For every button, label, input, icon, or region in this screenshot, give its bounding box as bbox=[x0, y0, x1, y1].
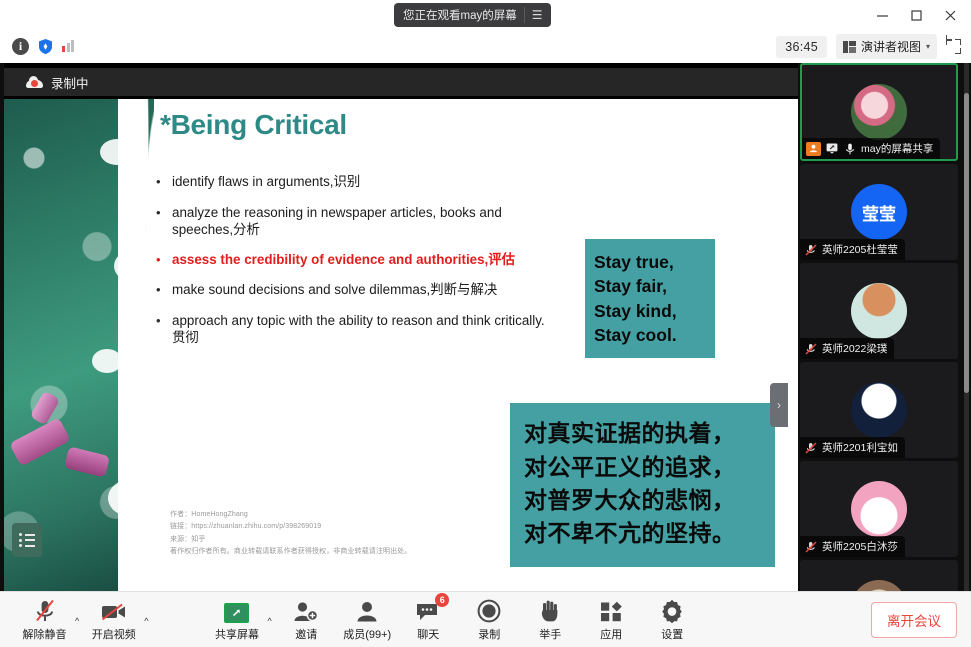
chevron-down-icon: ▾ bbox=[926, 42, 930, 51]
participants-label: 成员(99+) bbox=[343, 626, 391, 642]
bullet-text: assess the credibility of evidence and a… bbox=[172, 251, 515, 269]
record-label: 录制 bbox=[478, 626, 500, 642]
control-group-leave: 离开会议 bbox=[841, 602, 971, 638]
avatar bbox=[851, 580, 907, 591]
bullet-icon: • bbox=[156, 251, 172, 269]
attribution-line: 著作权归作者所有。商业转载请联系作者获得授权，非商业转载请注明出处。 bbox=[170, 546, 411, 558]
list-item: • make sound decisions and solve dilemma… bbox=[156, 281, 556, 299]
raise-hand-label: 举手 bbox=[539, 626, 561, 642]
host-badge-icon bbox=[806, 142, 821, 156]
view-mode-selector[interactable]: 演讲者视图 ▾ bbox=[836, 34, 937, 59]
participant-name-bar: 英师2205杜莹莹 bbox=[800, 239, 905, 260]
bullet-text: approach any topic with the ability to r… bbox=[172, 312, 556, 346]
control-group-main: 共享屏幕 ^ 邀请 成员(99+) 6 聊天 bbox=[206, 597, 702, 642]
audio-options-caret[interactable]: ^ bbox=[75, 616, 83, 642]
bullet-icon: • bbox=[156, 204, 172, 238]
avatar-initials: 莹莹 bbox=[851, 184, 907, 240]
participant-name: 英师2022梁璞 bbox=[822, 341, 887, 356]
slide-title: *Being Critical bbox=[160, 109, 347, 141]
participants-button[interactable]: 成员(99+) bbox=[337, 597, 398, 642]
participant-scrollbar[interactable] bbox=[964, 63, 969, 591]
attribution-line: 来源：知乎 bbox=[170, 534, 411, 546]
start-video-button[interactable]: 开启视频 bbox=[83, 597, 144, 642]
close-button[interactable] bbox=[933, 1, 967, 29]
bullet-icon: • bbox=[156, 281, 172, 299]
participant-strip: may的屏幕共享 莹莹 英师2205杜莹莹 bbox=[800, 63, 964, 591]
apps-button[interactable]: 应用 bbox=[581, 597, 642, 642]
participant-name: 英师2205白沐莎 bbox=[822, 539, 898, 554]
participant-tile[interactable]: 莹莹 英师2205杜莹莹 bbox=[800, 164, 958, 260]
slide-attribution: 作者：HomeHongZhang 链接：https://zhuanlan.zhi… bbox=[170, 509, 411, 558]
list-item: • analyze the reasoning in newspaper art… bbox=[156, 204, 556, 238]
record-icon bbox=[477, 597, 501, 623]
presentation-slide: *Being Critical • identify flaws in argu… bbox=[4, 99, 798, 591]
zoom-meeting-window: 您正在观看may的屏幕 ☰ i bbox=[0, 0, 971, 647]
record-button[interactable]: 录制 bbox=[459, 597, 520, 642]
quote-line: 对真实证据的执着， bbox=[524, 418, 775, 451]
speaker-view-icon bbox=[843, 41, 856, 53]
quote-line: Stay kind, bbox=[594, 299, 715, 323]
start-video-label: 开启视频 bbox=[92, 626, 136, 642]
microphone-muted-icon bbox=[804, 540, 818, 553]
bullet-icon: • bbox=[156, 312, 172, 346]
chat-icon: 6 bbox=[415, 597, 441, 623]
avatar bbox=[851, 481, 907, 537]
attribution-line: 作者：HomeHongZhang bbox=[170, 509, 411, 521]
control-group-av: 解除静音 ^ 开启视频 ^ bbox=[0, 597, 152, 642]
participant-name-bar: may的屏幕共享 bbox=[802, 138, 940, 159]
participant-name-bar: 英师2201利宝如 bbox=[800, 437, 905, 458]
video-off-icon bbox=[101, 597, 127, 623]
share-screen-button[interactable]: 共享屏幕 bbox=[206, 597, 267, 642]
bullet-icon: • bbox=[156, 173, 172, 191]
invite-button[interactable]: 邀请 bbox=[276, 597, 337, 642]
recording-indicator-bar: 录制中 bbox=[4, 68, 798, 96]
quote-line: 对普罗大众的悲悯， bbox=[524, 485, 775, 518]
microphone-muted-icon bbox=[34, 597, 56, 623]
invite-user-icon bbox=[293, 597, 319, 623]
chat-unread-badge: 6 bbox=[435, 593, 449, 607]
slide-paint-decoration bbox=[4, 99, 154, 591]
participant-tile-active[interactable]: may的屏幕共享 bbox=[800, 63, 958, 161]
participant-name: may的屏幕共享 bbox=[861, 141, 933, 156]
list-item: • identify flaws in arguments,识别 bbox=[156, 173, 556, 191]
microphone-muted-icon bbox=[804, 441, 818, 454]
share-options-caret[interactable]: ^ bbox=[267, 616, 275, 642]
avatar bbox=[851, 283, 907, 339]
microphone-muted-icon bbox=[804, 243, 818, 256]
participant-name: 英师2205杜莹莹 bbox=[822, 242, 898, 257]
quote-line: Stay fair, bbox=[594, 274, 715, 298]
window-buttons bbox=[865, 0, 967, 30]
info-icon[interactable]: i bbox=[12, 38, 29, 55]
microphone-icon bbox=[843, 142, 857, 155]
hamburger-icon[interactable]: ☰ bbox=[532, 9, 547, 21]
list-icon bbox=[12, 523, 42, 557]
list-item-highlighted: • assess the credibility of evidence and… bbox=[156, 251, 556, 269]
settings-button[interactable]: 设置 bbox=[642, 597, 703, 642]
cloud-recording-icon bbox=[26, 76, 43, 88]
share-screen-label: 共享屏幕 bbox=[215, 626, 259, 642]
scrollbar-thumb[interactable] bbox=[964, 93, 969, 393]
quote-line: Stay cool. bbox=[594, 323, 715, 347]
title-bar: 您正在观看may的屏幕 ☰ bbox=[0, 0, 971, 30]
apps-icon bbox=[599, 597, 623, 623]
invite-label: 邀请 bbox=[295, 626, 317, 642]
video-options-caret[interactable]: ^ bbox=[144, 616, 152, 642]
quote-line: Stay true, bbox=[594, 250, 715, 274]
gear-icon bbox=[660, 597, 684, 623]
screen-share-notice: 您正在观看may的屏幕 ☰ bbox=[394, 3, 551, 27]
chat-label: 聊天 bbox=[417, 626, 439, 642]
minimize-button[interactable] bbox=[865, 1, 899, 29]
shield-icon[interactable] bbox=[37, 38, 54, 55]
meeting-controls-right: 36:45 演讲者视图 ▾ bbox=[776, 34, 971, 59]
participant-name: 英师2201利宝如 bbox=[822, 440, 898, 455]
meeting-status-icons: i bbox=[0, 38, 74, 55]
avatar: 莹莹 bbox=[851, 184, 907, 240]
fullscreen-icon[interactable] bbox=[946, 39, 961, 54]
leave-meeting-button[interactable]: 离开会议 bbox=[871, 602, 957, 638]
raise-hand-button[interactable]: 举手 bbox=[520, 597, 581, 642]
microphone-muted-icon bbox=[804, 342, 818, 355]
tooltip-divider bbox=[524, 7, 525, 23]
signal-bars-icon[interactable] bbox=[62, 41, 74, 53]
slide-bullet-list: • identify flaws in arguments,识别 • analy… bbox=[156, 173, 556, 359]
recording-label: 录制中 bbox=[51, 73, 89, 92]
meeting-control-bar: 解除静音 ^ 开启视频 ^ 共享屏幕 ^ bbox=[0, 591, 971, 647]
raise-hand-icon bbox=[539, 597, 561, 623]
bullet-text: analyze the reasoning in newspaper artic… bbox=[172, 204, 556, 238]
chevron-right-icon[interactable]: › bbox=[770, 383, 788, 427]
mute-label: 解除静音 bbox=[23, 626, 67, 642]
shared-screen-view[interactable]: 录制中 bbox=[4, 63, 798, 591]
participant-tile[interactable]: 英师2201利宝如 bbox=[800, 362, 958, 458]
attribution-line: 链接：https://zhuanlan.zhihu.com/p/39826901… bbox=[170, 521, 411, 533]
mute-button[interactable]: 解除静音 bbox=[14, 597, 75, 642]
quote-line: 对不卑不亢的坚持。 bbox=[524, 518, 775, 551]
participants-icon bbox=[355, 597, 379, 623]
view-mode-label: 演讲者视图 bbox=[861, 38, 921, 55]
settings-label: 设置 bbox=[661, 626, 683, 642]
screen-share-notice-text: 您正在观看may的屏幕 bbox=[403, 7, 517, 23]
participant-tile-partial[interactable]: ⌄ bbox=[800, 560, 958, 591]
participant-name-bar: 英师2022梁璞 bbox=[800, 338, 894, 359]
quote-line: 对公平正义的追求， bbox=[524, 452, 775, 485]
chat-button[interactable]: 6 聊天 bbox=[398, 597, 459, 642]
meeting-info-bar: i 36:45 演讲者视图 ▾ bbox=[0, 30, 971, 63]
participant-tile[interactable]: 英师2022梁璞 bbox=[800, 263, 958, 359]
avatar bbox=[851, 84, 907, 140]
meeting-timer: 36:45 bbox=[776, 36, 827, 58]
apps-label: 应用 bbox=[600, 626, 622, 642]
maximize-button[interactable] bbox=[899, 1, 933, 29]
meeting-stage: 录制中 bbox=[0, 63, 971, 591]
participant-tile[interactable]: 英师2205白沐莎 bbox=[800, 461, 958, 557]
quote-box-chinese: 对真实证据的执着， 对公平正义的追求， 对普罗大众的悲悯， 对不卑不亢的坚持。 bbox=[510, 403, 775, 567]
avatar bbox=[851, 382, 907, 438]
quote-box-english: Stay true, Stay fair, Stay kind, Stay co… bbox=[585, 239, 715, 358]
share-screen-icon bbox=[224, 597, 249, 623]
bullet-text: make sound decisions and solve dilemmas,… bbox=[172, 281, 497, 299]
bullet-text: identify flaws in arguments,识别 bbox=[172, 173, 360, 191]
list-item: • approach any topic with the ability to… bbox=[156, 312, 556, 346]
screen-share-icon bbox=[825, 142, 839, 155]
participant-name-bar: 英师2205白沐莎 bbox=[800, 536, 905, 557]
